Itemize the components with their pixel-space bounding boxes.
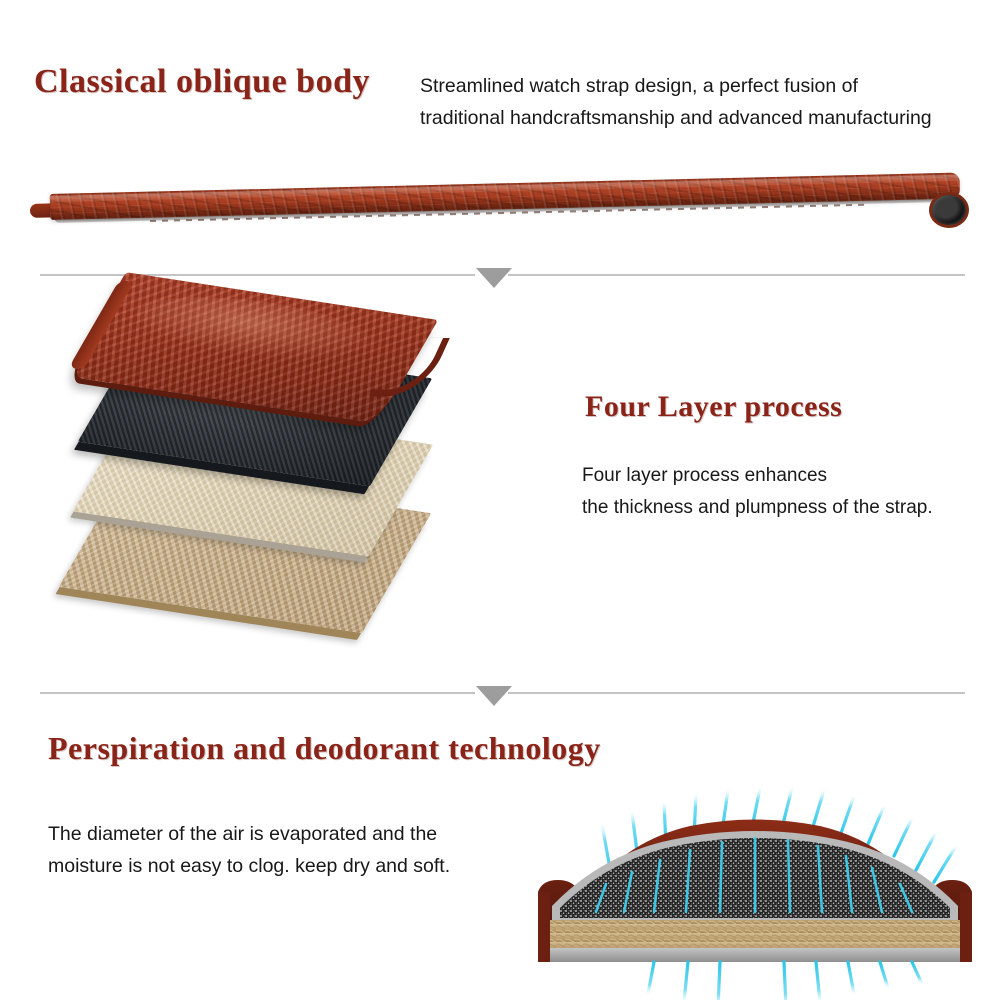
section-title-classical-oblique-body: Classical oblique body [34, 63, 370, 101]
section-description-four-layer-process: Four layer process enhances the thicknes… [582, 460, 933, 524]
cross-section-airflow-illustration [520, 780, 990, 1000]
section-title-four-layer-process: Four Layer process [585, 390, 842, 424]
divider-line-right [508, 692, 965, 694]
description-line: moisture is not easy to clog. keep dry a… [48, 850, 450, 882]
section-description-classical-oblique-body: Streamlined watch strap design, a perfec… [420, 70, 932, 134]
strap-end-hardware-icon [929, 192, 970, 229]
cross-section-fiber-layer [546, 920, 964, 950]
chevron-down-icon [476, 686, 512, 706]
description-line: Four layer process enhances [582, 460, 933, 492]
section-title-perspiration-deodorant-technology: Perspiration and deodorant technology [48, 730, 601, 767]
divider-two [0, 676, 1001, 710]
divider-line-left [40, 274, 475, 276]
exploded-layer-stack-illustration [72, 300, 492, 660]
divider-line-left [40, 692, 475, 694]
description-line: the thickness and plumpness of the strap… [582, 492, 933, 524]
infographic-page: Classical oblique body Streamlined watch… [0, 0, 1001, 1001]
airflow-lines-bottom [648, 962, 922, 1000]
description-line: Streamlined watch strap design, a perfec… [420, 70, 932, 102]
section-description-perspiration-deodorant-technology: The diameter of the air is evaporated an… [48, 818, 450, 882]
divider-line-right [508, 274, 965, 276]
cross-section-base-layer [546, 948, 964, 962]
cross-section-right-wall [960, 892, 972, 962]
cross-section-svg [520, 780, 990, 1000]
chevron-down-icon [476, 268, 512, 288]
watch-strap-photo [30, 168, 975, 248]
description-line: The diameter of the air is evaporated an… [48, 818, 450, 850]
description-line: traditional handcraftsmanship and advanc… [420, 102, 932, 134]
cross-section-left-wall [538, 892, 550, 962]
